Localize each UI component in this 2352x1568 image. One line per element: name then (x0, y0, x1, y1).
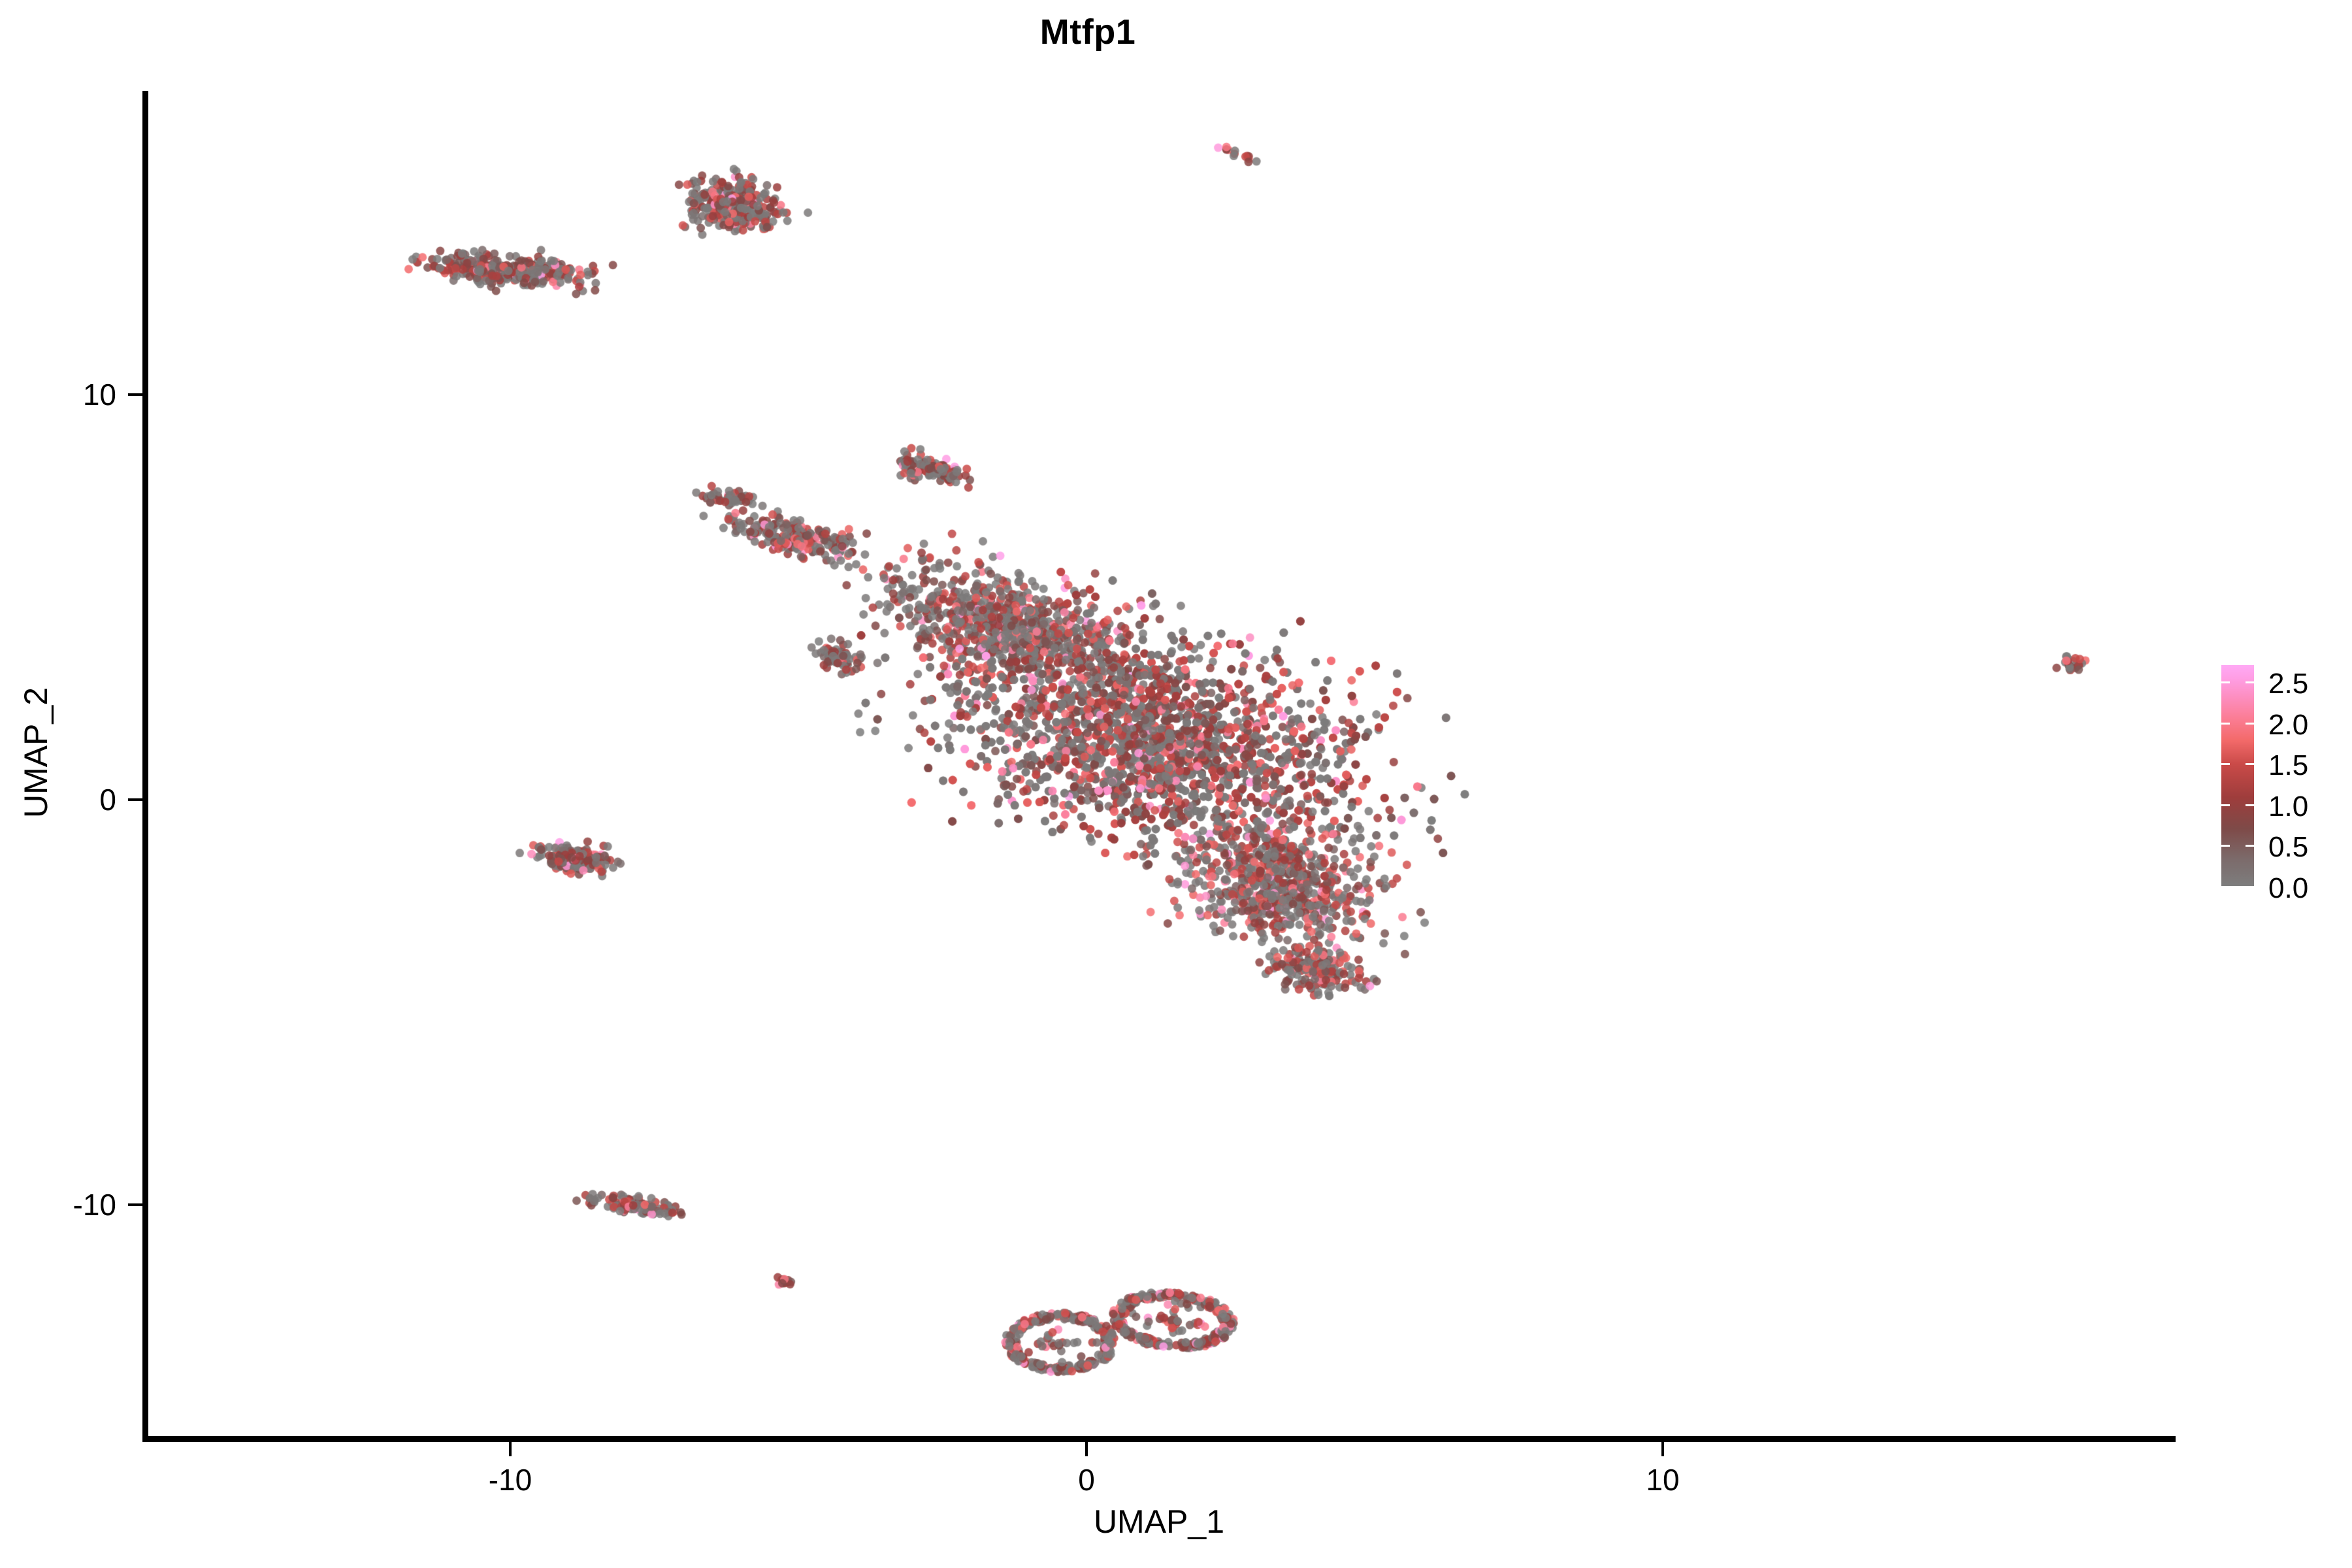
y-axis-line (142, 91, 148, 1442)
y-tick-label: -10 (73, 1187, 116, 1222)
x-tick-label: 10 (1646, 1462, 1679, 1497)
umap-feature-plot: Mtfp1 -10010 -10010 UMAP_1 UMAP_2 0.00.5… (0, 0, 2352, 1568)
colorbar-label: 2.5 (2268, 668, 2308, 700)
colorbar-tick-mark (2221, 681, 2230, 683)
x-tick-mark (1085, 1442, 1088, 1456)
colorbar-label: 0.0 (2268, 872, 2308, 905)
colorbar-tick-mark (2221, 804, 2230, 806)
x-tick-mark (509, 1442, 512, 1456)
colorbar-tick-mark (2246, 886, 2254, 888)
colorbar-tick-mark (2221, 763, 2230, 765)
x-tick-label: 0 (1078, 1462, 1095, 1497)
colorbar-label: 1.5 (2268, 749, 2308, 782)
y-tick-label: 0 (99, 782, 116, 817)
x-tick-label: -10 (489, 1462, 532, 1497)
y-tick-mark (128, 393, 142, 396)
colorbar-gradient (2221, 665, 2254, 886)
colorbar-label: 1.0 (2268, 791, 2308, 823)
x-axis-title: UMAP_1 (142, 1503, 2176, 1541)
plot-area (0, 0, 2352, 1568)
colorbar-tick-mark (2246, 681, 2254, 683)
colorbar-tick-mark (2246, 723, 2254, 725)
colorbar-label: 0.5 (2268, 831, 2308, 864)
x-tick-mark (1661, 1442, 1664, 1456)
colorbar-label: 2.0 (2268, 709, 2308, 742)
x-axis-line (142, 1436, 2176, 1442)
colorbar-tick-mark (2246, 804, 2254, 806)
colorbar-tick-mark (2246, 845, 2254, 847)
y-axis-title: UMAP_2 (17, 426, 55, 1079)
colorbar-tick-mark (2221, 845, 2230, 847)
y-tick-mark (128, 798, 142, 801)
color-legend: 0.00.51.01.52.02.5 (2221, 665, 2345, 886)
colorbar-tick-mark (2221, 886, 2230, 888)
scatter-canvas (0, 0, 2352, 1568)
colorbar-tick-mark (2221, 723, 2230, 725)
colorbar-tick-mark (2246, 763, 2254, 765)
y-tick-label: 10 (83, 377, 116, 412)
y-tick-mark (128, 1203, 142, 1206)
